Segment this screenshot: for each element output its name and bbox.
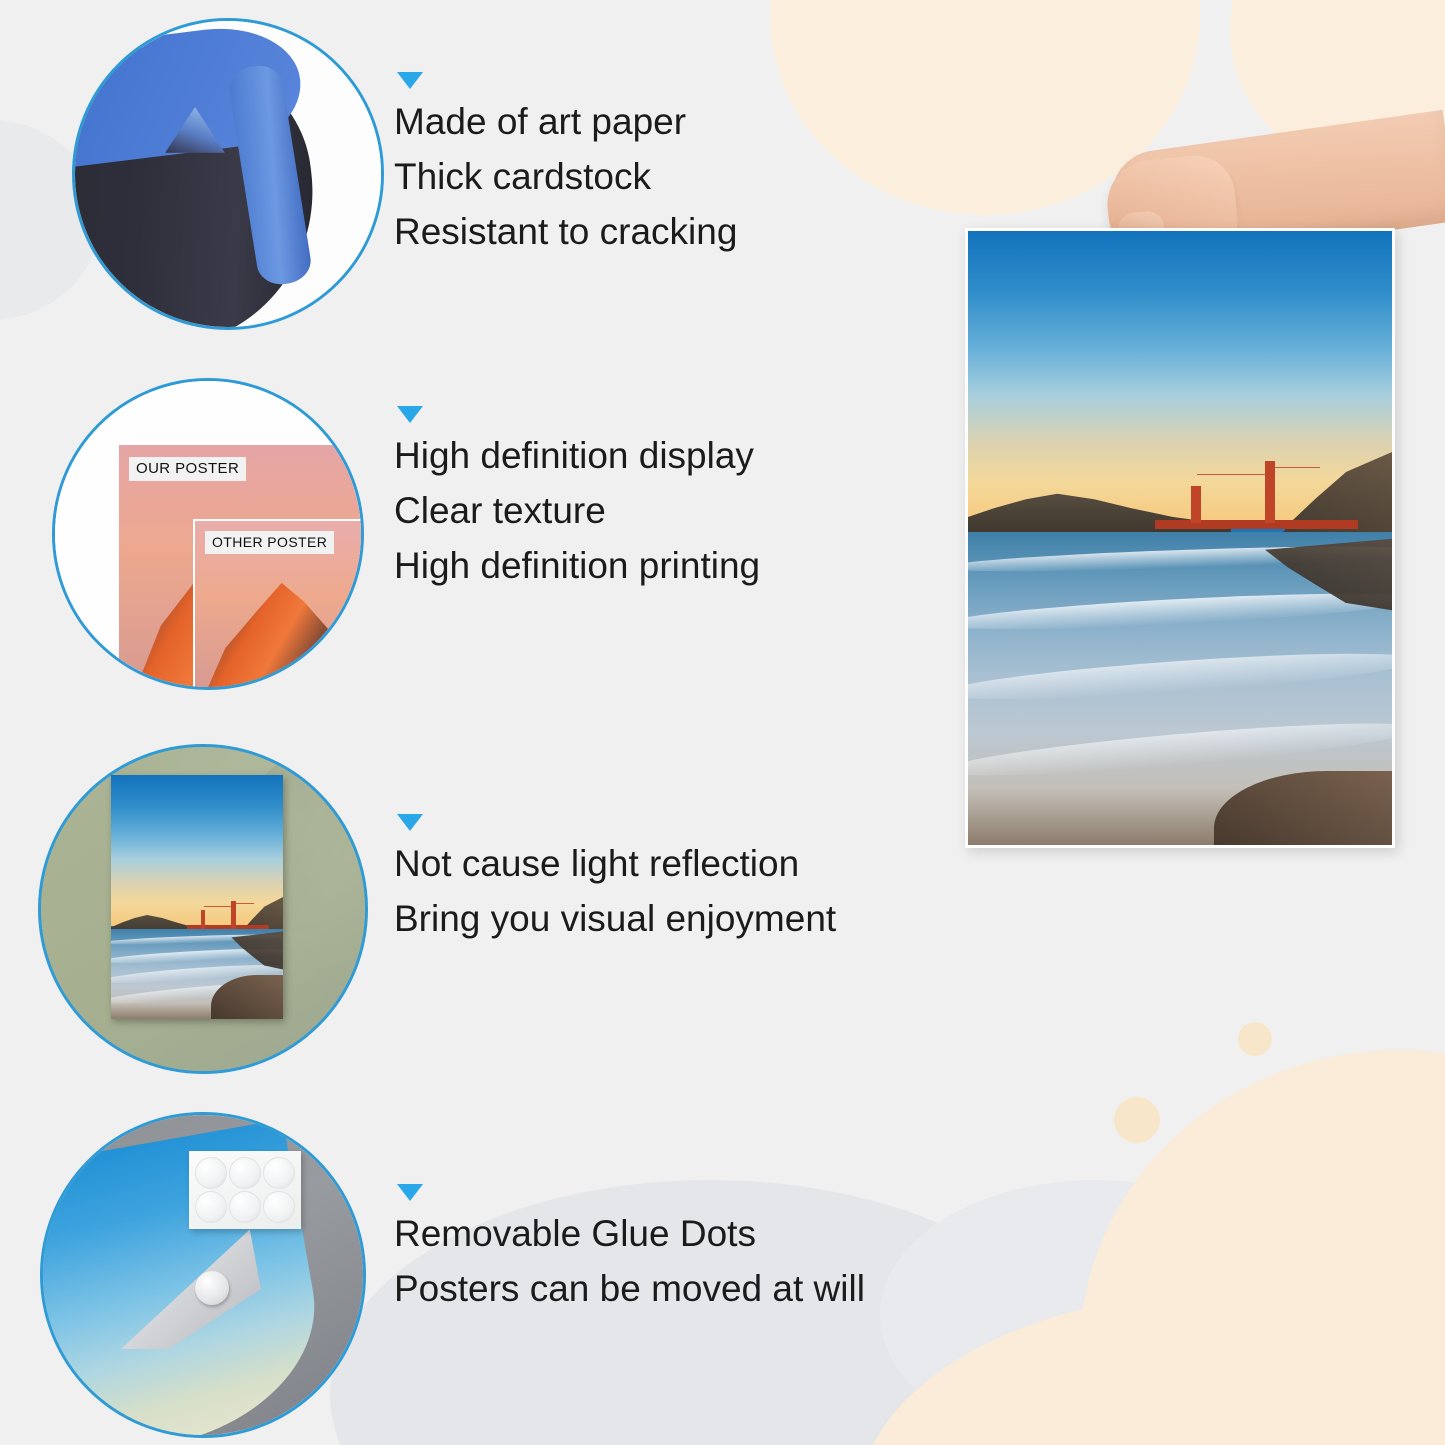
triangle-down-icon — [397, 814, 423, 831]
decorative-blob-gray-wave-2 — [880, 1250, 1440, 1445]
bridge-tower-left — [1191, 486, 1201, 523]
other-poster-label: OTHER POSTER — [205, 531, 334, 554]
golden-gate-scene — [111, 775, 283, 1019]
rolled-poster-thumbnail — [72, 18, 384, 330]
poster-comparison-thumbnail: OUR POSTER OTHER POSTER — [52, 378, 364, 690]
glue-dot-applied — [195, 1271, 229, 1305]
feature-line: Clear texture — [394, 484, 760, 539]
decorative-blob-cream-bottom-right-1 — [1080, 1050, 1445, 1445]
glue-dots-thumbnail — [40, 1112, 366, 1438]
hand-holding-poster — [940, 130, 1410, 870]
sky-gradient — [111, 775, 283, 926]
feature-text-high-definition: High definition display Clear texture Hi… — [394, 406, 760, 593]
bridge-cable-main — [1197, 474, 1269, 523]
feature-line: Not cause light reflection — [394, 837, 836, 892]
glue-dot — [229, 1157, 261, 1189]
feature-line: Posters can be moved at will — [394, 1262, 865, 1317]
hero-poster — [965, 228, 1395, 848]
mountain-graphic — [199, 572, 364, 690]
decorative-blob-cream-bottom-right-2 — [860, 1290, 1445, 1445]
glue-dot — [263, 1157, 295, 1189]
bridge-tower-right — [1265, 461, 1275, 522]
triangle-down-icon — [397, 406, 423, 423]
feature-line: High definition printing — [394, 539, 760, 594]
our-poster-label: OUR POSTER — [129, 457, 246, 481]
bridge-cable-main — [204, 906, 233, 926]
triangle-down-icon — [397, 1184, 423, 1201]
feature-text-no-light-reflection: Not cause light reflection Bring you vis… — [394, 814, 836, 947]
glue-dot — [263, 1191, 295, 1223]
feature-text-art-paper: Made of art paper Thick cardstock Resist… — [394, 72, 737, 259]
bridge-deck — [1155, 520, 1359, 530]
decorative-blob-gray-bottom-right — [880, 1180, 1310, 1445]
glue-dot — [195, 1157, 227, 1189]
decorative-dot-cream-2 — [1238, 1022, 1272, 1056]
glue-dots-sheet — [189, 1151, 301, 1229]
golden-gate-scene — [968, 231, 1392, 845]
poster-on-wall-thumbnail — [38, 744, 368, 1074]
other-poster-sample: OTHER POSTER — [193, 519, 364, 690]
bridge-tower-left — [201, 910, 205, 928]
glue-dot — [195, 1191, 227, 1223]
mounted-poster — [111, 775, 283, 1019]
feature-line: High definition display — [394, 429, 760, 484]
feature-line: Resistant to cracking — [394, 205, 737, 260]
feature-line: Removable Glue Dots — [394, 1207, 865, 1262]
feature-text-removable-glue-dots: Removable Glue Dots Posters can be moved… — [394, 1184, 865, 1317]
feature-line: Bring you visual enjoyment — [394, 892, 836, 947]
sky-gradient — [968, 231, 1392, 526]
feature-line: Made of art paper — [394, 95, 737, 150]
feature-line: Thick cardstock — [394, 150, 737, 205]
decorative-dot-cream-1 — [1114, 1097, 1160, 1143]
glue-dot — [229, 1191, 261, 1223]
triangle-down-icon — [397, 72, 423, 89]
bridge-tower-right — [231, 901, 235, 929]
